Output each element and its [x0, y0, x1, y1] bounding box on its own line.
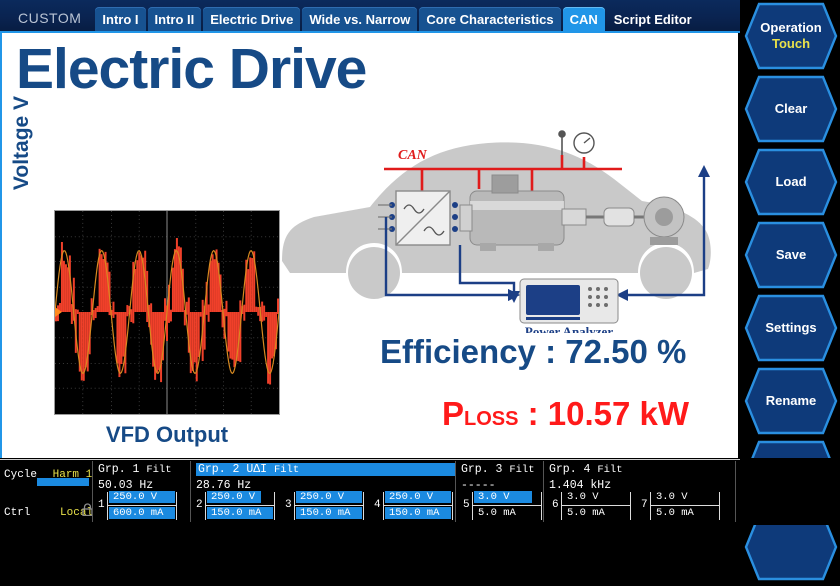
group-3-header[interactable]: Grp. 3 Filt ----- [461, 463, 535, 492]
softkey-operation-value: Touch [772, 36, 810, 52]
channel-2-current: 150.0 mA [207, 507, 273, 519]
channel-6-voltage-value: 3.0 V [567, 491, 599, 503]
group-2-header[interactable]: Grp. 2 UΔI Filt 28.76 Hz [196, 463, 455, 492]
channel-5-voltage: 3.0 V [474, 491, 540, 503]
power-analyzer-label: Power Analyzer [525, 324, 613, 333]
group-3-filt: Filt [509, 464, 534, 476]
channel-bracket-left [561, 492, 562, 520]
channel-3-voltage-value: 250.0 V [300, 491, 344, 503]
power-loss-separator: : [518, 395, 547, 432]
channel-bracket-right [274, 492, 275, 520]
softkey-settings-label: Settings [765, 320, 816, 336]
channel-bracket-left [294, 492, 295, 520]
power-analyzer-icon [520, 279, 618, 323]
power-loss-label: P [442, 395, 464, 432]
group-4-name: Grp. 4 [549, 463, 590, 476]
instrument-screen: CUSTOM Intro I Intro II Electric Drive W… [0, 0, 840, 525]
channel-axis [384, 505, 453, 506]
channel-1-voltage-value: 250.0 V [113, 491, 157, 503]
channel-7-voltage: 3.0 V [652, 491, 718, 503]
channel-axis [206, 505, 275, 506]
channel-1-number: 1 [98, 499, 105, 511]
status-separator [190, 461, 191, 522]
channel-4[interactable]: 4250.0 V150.0 mA [374, 490, 462, 522]
efficiency-label: Efficiency : [380, 333, 556, 370]
softkey-operation[interactable]: OperationTouch [744, 2, 838, 70]
channel-bracket-right [630, 492, 631, 520]
power-loss-subscript: LOSS [464, 408, 518, 430]
power-loss-value: 10.57 kW [548, 395, 689, 432]
status-separator [92, 461, 93, 522]
channel-3-number: 3 [285, 499, 292, 511]
cycle-block: Cycle Harm 1 [4, 464, 92, 482]
inverter-icon [396, 191, 450, 245]
channel-4-current-value: 150.0 mA [389, 507, 439, 519]
tab-bar: CUSTOM Intro I Intro II Electric Drive W… [0, 0, 740, 33]
softkey-clear[interactable]: Clear [744, 75, 838, 143]
channel-1-voltage: 250.0 V [109, 491, 175, 503]
can-bus-label: CAN [398, 148, 428, 163]
tab-wide-vs-narrow[interactable]: Wide vs. Narrow [302, 7, 417, 33]
channel-7-current-value: 5.0 mA [656, 507, 694, 519]
channel-7-current: 5.0 mA [652, 507, 718, 519]
channel-bracket-left [650, 492, 651, 520]
group-4-filt: Filt [597, 464, 622, 476]
channel-bracket-right [541, 492, 542, 520]
channel-4-current: 150.0 mA [385, 507, 451, 519]
group-4-header[interactable]: Grp. 4 Filt 1.404 kHz [549, 463, 623, 492]
status-bar: Cycle Harm 1 Ctrl Local Grp. 1 Filt 50.0… [0, 458, 840, 525]
status-divider [0, 459, 740, 460]
group-1-header[interactable]: Grp. 1 Filt 50.03 Hz [98, 463, 172, 492]
softkey-settings[interactable]: Settings [744, 294, 838, 362]
channel-7-voltage-value: 3.0 V [656, 491, 688, 503]
channel-3-current: 150.0 mA [296, 507, 362, 519]
channel-bracket-left [107, 492, 108, 520]
softkey-rename[interactable]: Rename [744, 367, 838, 435]
channel-6-voltage: 3.0 V [563, 491, 629, 503]
page-title: Electric Drive [16, 41, 366, 98]
channel-4-voltage: 250.0 V [385, 491, 451, 503]
efficiency-readout: Efficiency : 72.50 % [380, 333, 686, 371]
group-1-name: Grp. 1 [98, 463, 139, 476]
tab-electric-drive[interactable]: Electric Drive [203, 7, 300, 33]
softkey-load-label: Load [775, 174, 806, 190]
channel-5-current-value: 5.0 mA [478, 507, 516, 519]
softkey-load[interactable]: Load [744, 148, 838, 216]
channel-axis [562, 505, 631, 506]
channel-5-current: 5.0 mA [474, 507, 540, 519]
channel-1[interactable]: 1250.0 V600.0 mA [98, 490, 186, 522]
channel-7[interactable]: 73.0 V5.0 mA [641, 490, 729, 522]
channel-2[interactable]: 2250.0 V150.0 mA [196, 490, 284, 522]
channel-bracket-left [205, 492, 206, 520]
softkey-save[interactable]: Save [744, 221, 838, 289]
cycle-progress-bar [37, 478, 89, 486]
channel-3-voltage: 250.0 V [296, 491, 362, 503]
content-canvas: Electric Drive CAN [0, 33, 738, 458]
channel-bracket-right [452, 492, 453, 520]
group-2-filt: Filt [274, 464, 299, 476]
channel-3-current-value: 150.0 mA [300, 507, 350, 519]
tab-can[interactable]: CAN [563, 7, 605, 33]
ctrl-label: Ctrl [4, 507, 30, 519]
channel-bracket-right [719, 492, 720, 520]
channel-6-current: 5.0 mA [563, 507, 629, 519]
channel-bracket-left [383, 492, 384, 520]
car-wheel-front [640, 247, 692, 299]
channel-5-number: 5 [463, 499, 470, 511]
scope-display [54, 210, 280, 415]
channel-2-current-value: 150.0 mA [211, 507, 261, 519]
brake-hub-icon [644, 197, 684, 245]
channel-2-number: 2 [196, 499, 203, 511]
channel-axis [473, 505, 542, 506]
softkey-save-label: Save [776, 247, 806, 263]
ctrl-block: Ctrl Local [4, 502, 93, 520]
channel-4-number: 4 [374, 499, 381, 511]
channel-6[interactable]: 63.0 V5.0 mA [552, 490, 640, 522]
channel-5-voltage-value: 3.0 V [478, 491, 510, 503]
channel-axis [295, 505, 364, 506]
channel-axis [651, 505, 720, 506]
channel-1-current-value: 600.0 mA [113, 507, 163, 519]
tab-intro-1[interactable]: Intro I [95, 7, 145, 33]
channel-bracket-right [176, 492, 177, 520]
channel-1-current: 600.0 mA [109, 507, 175, 519]
scope-caption: VFD Output [54, 422, 280, 448]
channel-2-voltage-value: 250.0 V [211, 491, 255, 503]
cycle-label: Cycle [4, 469, 37, 481]
tab-core-characteristics[interactable]: Core Characteristics [419, 7, 560, 33]
channel-6-number: 6 [552, 499, 559, 511]
softkey-rename-label: Rename [766, 393, 817, 409]
channel-bracket-right [363, 492, 364, 520]
efficiency-value: 72.50 % [565, 333, 686, 370]
channel-axis [108, 505, 177, 506]
softkey-clear-label: Clear [775, 101, 808, 117]
channel-2-voltage: 250.0 V [207, 491, 273, 503]
channel-3[interactable]: 3250.0 V150.0 mA [285, 490, 373, 522]
group-3-name: Grp. 3 [461, 463, 502, 476]
group-2-mode: UΔI [246, 463, 267, 476]
softkey-operation-label: Operation [760, 20, 821, 36]
scope-y-axis-label: Voltage V [10, 58, 34, 228]
group-2-name: Grp. 2 [198, 463, 239, 476]
tab-script-editor[interactable]: Script Editor [607, 7, 699, 33]
group-2-title-bar: Grp. 2 UΔI Filt [196, 463, 455, 476]
car-wheel-rear [348, 247, 400, 299]
channel-4-voltage-value: 250.0 V [389, 491, 433, 503]
power-loss-readout: PLOSS : 10.57 kW [442, 395, 689, 433]
electric-drive-diagram: CAN [274, 113, 714, 333]
custom-label: CUSTOM [0, 10, 95, 33]
channel-6-current-value: 5.0 mA [567, 507, 605, 519]
group-1-filt: Filt [146, 464, 171, 476]
gauge-icon [574, 133, 594, 153]
channel-5[interactable]: 53.0 V5.0 mA [463, 490, 551, 522]
tab-intro-2[interactable]: Intro II [148, 7, 202, 33]
channel-7-number: 7 [641, 499, 648, 511]
channel-bracket-left [472, 492, 473, 520]
status-separator [735, 461, 736, 522]
